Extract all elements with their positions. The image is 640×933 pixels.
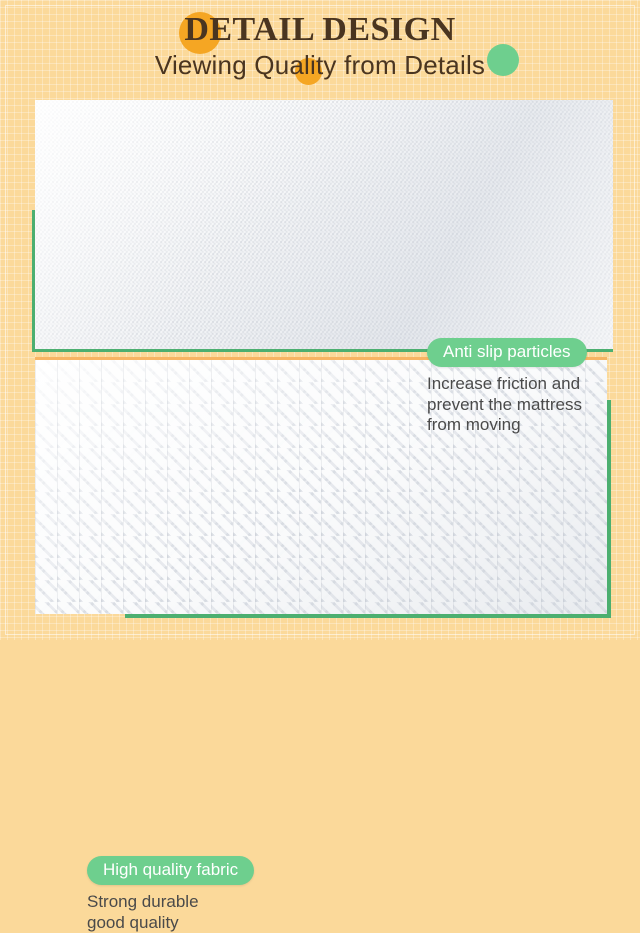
feature-description-fabric: Strong durable good quality	[87, 892, 254, 933]
callout-anti-slip: Anti slip particles Increase friction an…	[427, 338, 587, 436]
page-title: DETAIL DESIGN	[0, 11, 640, 49]
feature-description-anti-slip: Increase friction and prevent the mattre…	[427, 374, 587, 436]
accent-bar-bottom-green-2	[125, 614, 611, 618]
page-subtitle: Viewing Quality from Details	[0, 50, 640, 81]
accent-bar-right-green	[607, 400, 611, 618]
product-photo-panel-anti-slip: Anti slip particles Increase friction an…	[35, 100, 613, 349]
page-background: DETAIL DESIGN Viewing Quality from Detai…	[0, 0, 640, 640]
fabric-photo-anti-slip	[35, 100, 613, 349]
photo-sheen-overlay	[35, 100, 613, 349]
feature-badge-fabric: High quality fabric	[87, 856, 254, 885]
feature-badge-anti-slip: Anti slip particles	[427, 338, 587, 367]
callout-fabric: High quality fabric Strong durable good …	[87, 856, 254, 933]
header: DETAIL DESIGN Viewing Quality from Detai…	[0, 0, 640, 92]
